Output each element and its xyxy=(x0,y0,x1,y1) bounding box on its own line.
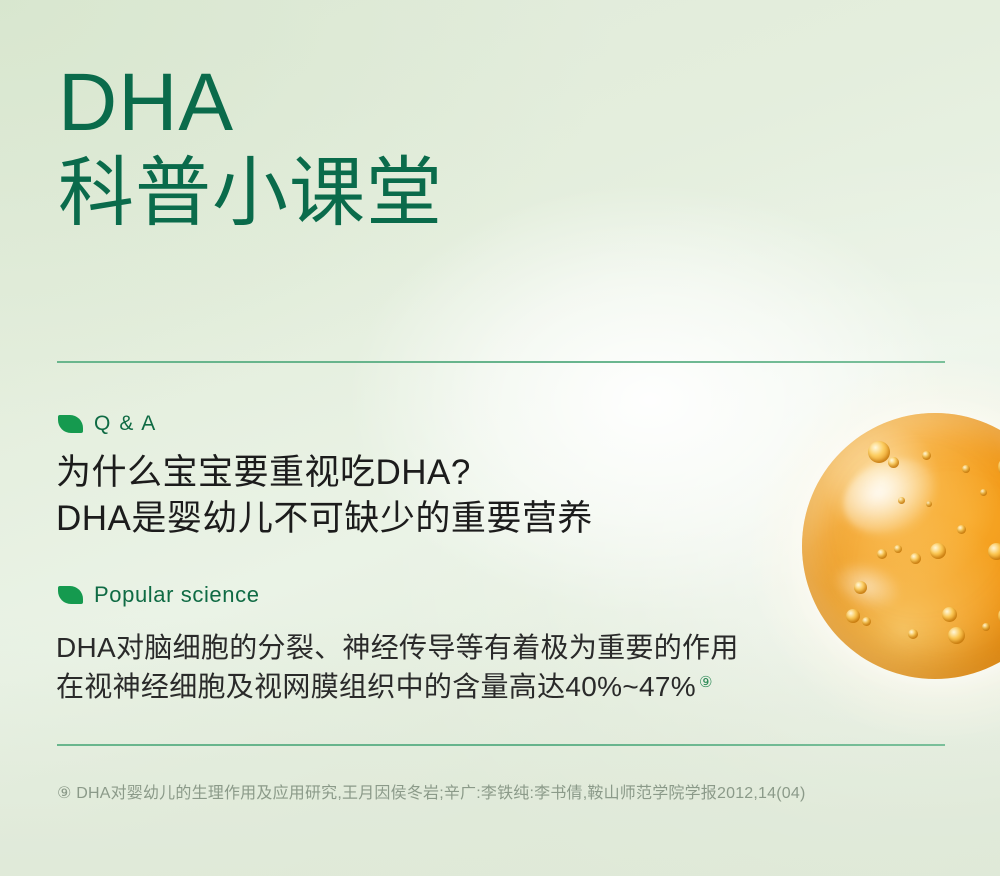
footnote-citation: ⑨ DHA对婴幼儿的生理作用及应用研究,王月因侯冬岩;辛广:李铁纯:李书倩,鞍山… xyxy=(57,779,806,803)
popular-science-section-tag-label: Popular science xyxy=(94,582,260,608)
qa-question-line-2: DHA是婴幼儿不可缺少的重要营养 xyxy=(56,496,593,542)
citation-superscript-icon: ⑨ xyxy=(699,672,713,693)
popular-science-body-line-2: 在视神经细胞及视网膜组织中的含量高达40%~47% xyxy=(56,671,696,702)
page-title-line-en: DHA xyxy=(58,62,443,144)
dha-science-poster: DHA 科普小课堂 Q & A 为什么宝宝要重视吃DHA? DHA是婴幼儿不可缺… xyxy=(0,0,1000,876)
oil-droplet-illustration xyxy=(790,400,1000,700)
popular-science-body: DHA对脑细胞的分裂、神经传导等有着极为重要的作用 在视神经细胞及视网膜组织中的… xyxy=(56,628,739,706)
qa-question-line-1: 为什么宝宝要重视吃DHA? xyxy=(56,450,593,496)
leaf-icon xyxy=(58,586,83,604)
page-title: DHA 科普小课堂 xyxy=(58,62,443,232)
popular-science-body-line-2-wrap: 在视神经细胞及视网膜组织中的含量高达40%~47%⑨ xyxy=(56,667,739,706)
qa-section-tag-label: Q & A xyxy=(94,412,157,436)
leaf-icon xyxy=(58,415,83,433)
divider-top xyxy=(57,361,945,363)
qa-question-block: 为什么宝宝要重视吃DHA? DHA是婴幼儿不可缺少的重要营养 xyxy=(56,450,593,541)
popular-science-section-tag: Popular science xyxy=(58,582,260,608)
qa-section-tag: Q & A xyxy=(58,412,157,436)
popular-science-body-line-1: DHA对脑细胞的分裂、神经传导等有着极为重要的作用 xyxy=(56,628,739,667)
divider-bottom xyxy=(57,744,945,746)
page-title-line-cn: 科普小课堂 xyxy=(58,156,443,232)
